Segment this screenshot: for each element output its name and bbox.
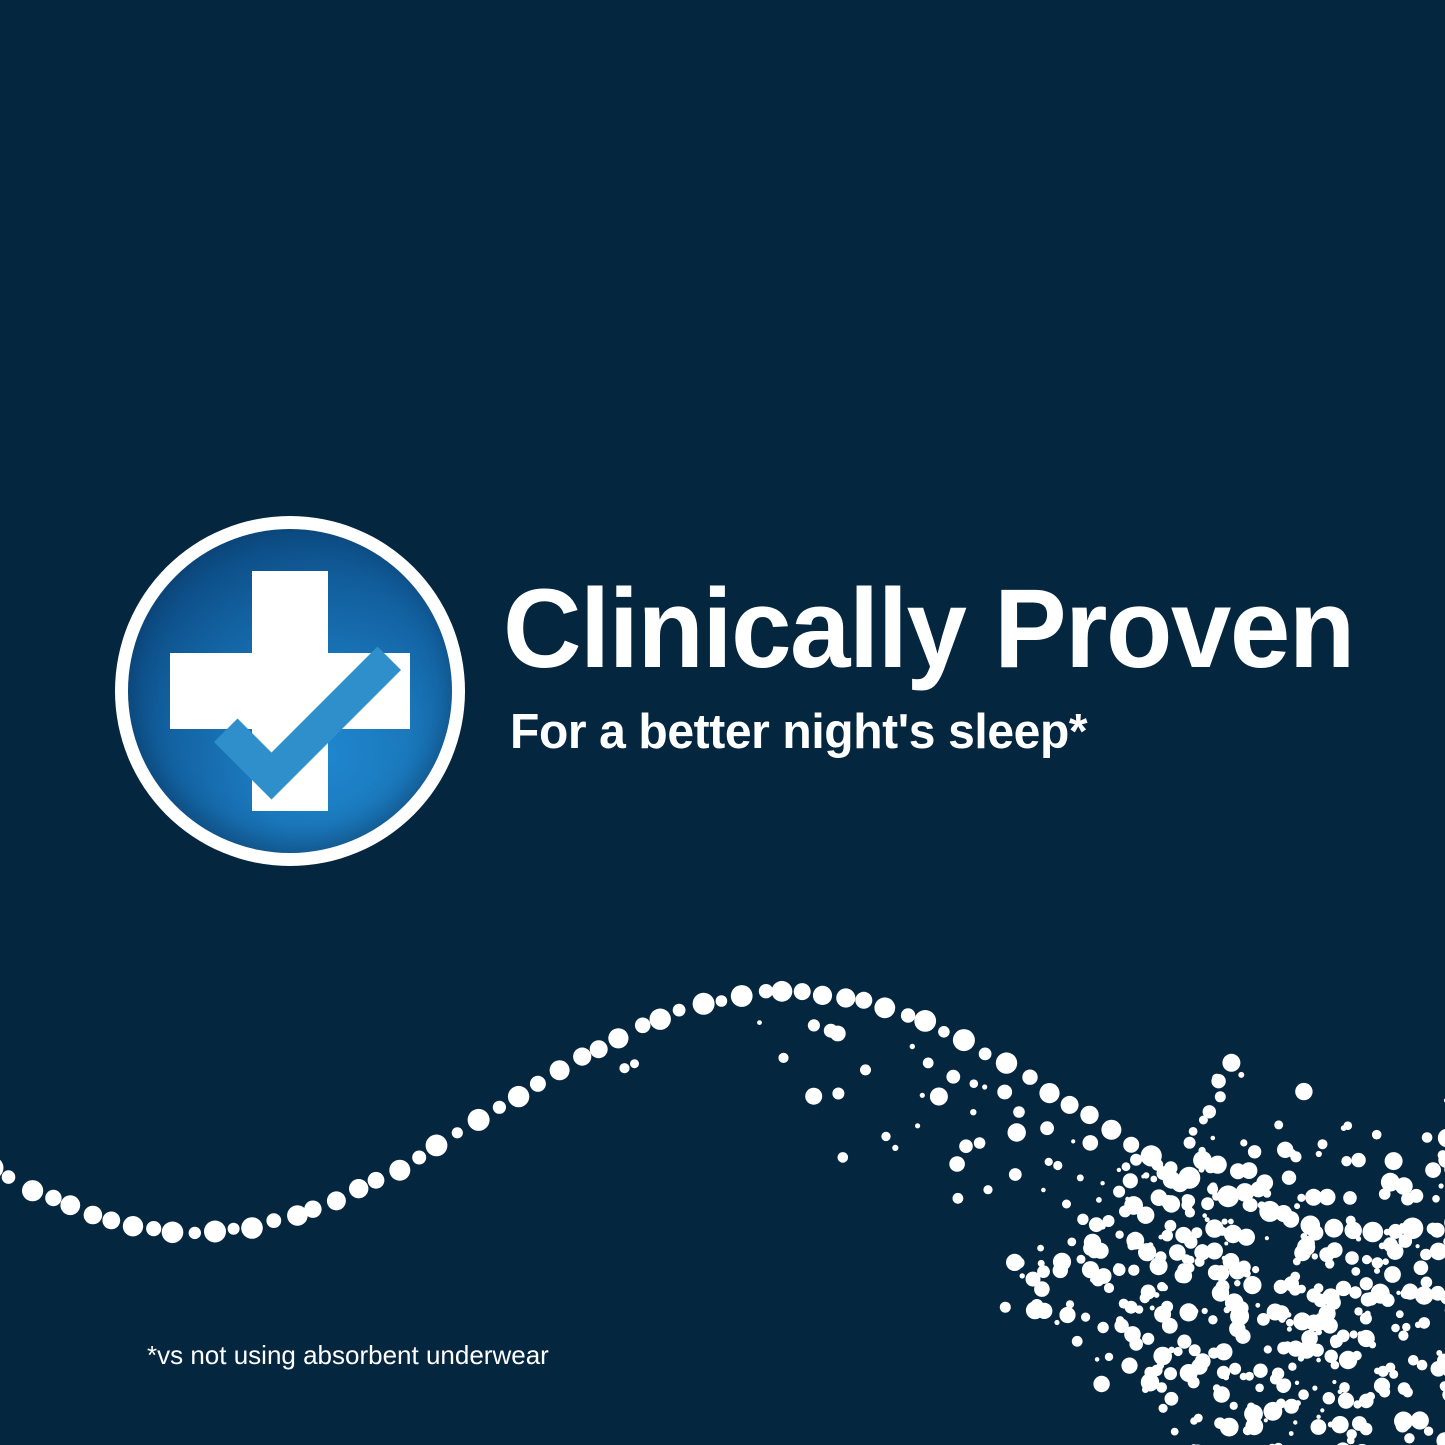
promo-card: Clinically Proven For a better night's s…	[0, 0, 1445, 1445]
page-subtitle: For a better night's sleep*	[510, 707, 1087, 758]
clinically-proven-badge	[115, 516, 465, 866]
medical-cross-check-icon	[128, 529, 452, 853]
footnote-disclaimer: *vs not using absorbent underwear	[147, 1341, 549, 1370]
page-title: Clinically Proven	[503, 573, 1354, 685]
